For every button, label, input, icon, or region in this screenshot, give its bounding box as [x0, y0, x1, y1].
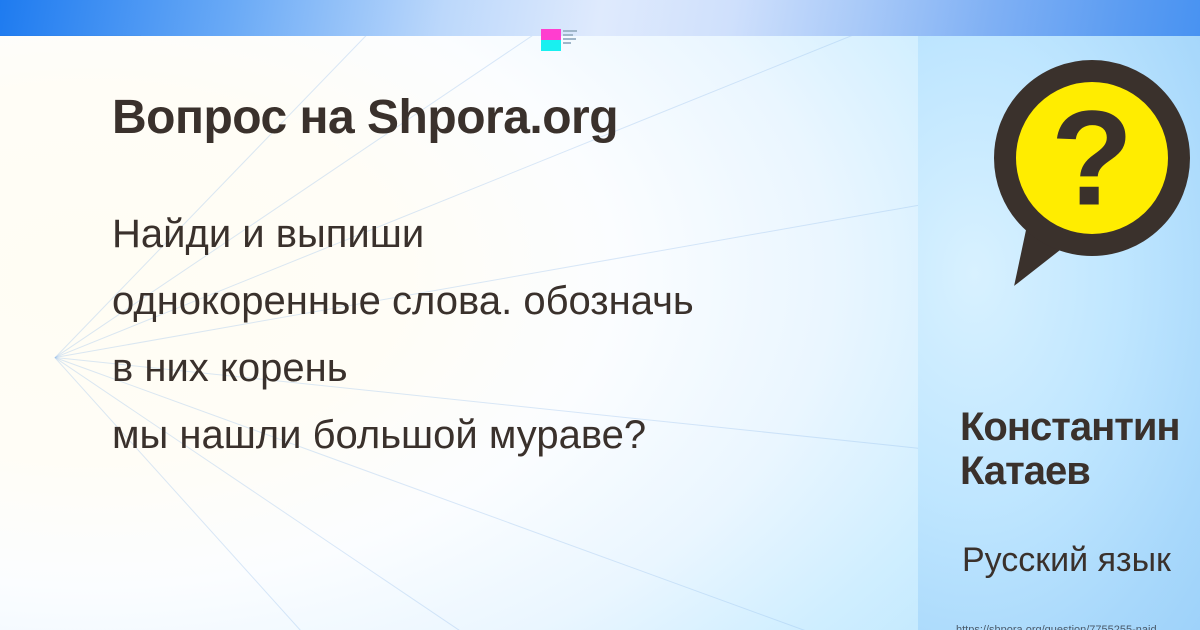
logo-bars-icon: [563, 30, 579, 48]
logo-mark-icon: [541, 29, 581, 51]
question-url[interactable]: https://shpora.org/question/7755255-naid: [956, 624, 1157, 630]
question-line: в них корень: [112, 335, 918, 402]
right-author-last-name: Катаев: [960, 449, 1180, 493]
logo-magenta-swatch: [541, 29, 561, 40]
question-line: Найди и выпиши: [112, 201, 918, 268]
right-author-name: Константин Катаев: [960, 405, 1180, 493]
right-preview-panel: ? Константин Катаев Русский язык https:/…: [918, 36, 1200, 630]
logo-cyan-swatch: [541, 40, 561, 51]
question-mark-glyph: ?: [994, 91, 1190, 226]
right-subject-label: Русский язык: [962, 541, 1171, 580]
page-title: Вопрос на Shpora.org: [112, 90, 618, 145]
question-text: Найди и выпиши однокоренные слова. обозн…: [112, 201, 918, 469]
question-line: однокоренные слова. обозначь: [112, 268, 918, 335]
right-author-first-name: Константин: [960, 405, 1180, 449]
main-question-panel: Вопрос на Shpora.org Найди и выпиши одно…: [0, 36, 918, 630]
question-bubble-icon: ?: [994, 60, 1190, 256]
question-line: мы нашли большой мураве?: [112, 402, 918, 469]
